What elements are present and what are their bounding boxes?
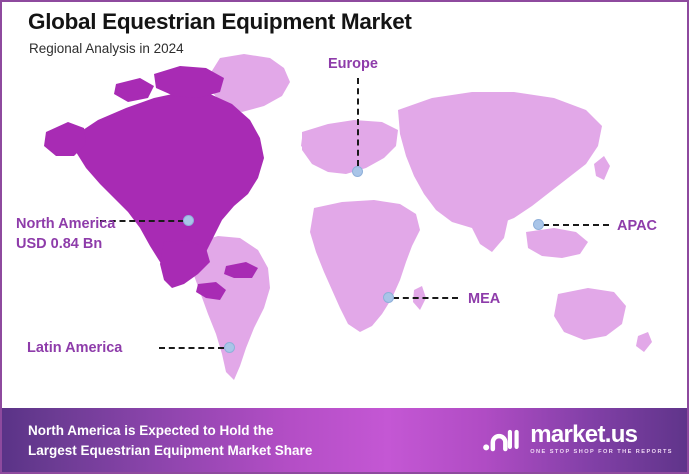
logo-text-group: market.us ONE STOP SHOP FOR THE REPORTS (530, 423, 673, 456)
footer-headline-line1: North America is Expected to Hold the (28, 421, 312, 441)
region-name-latin-america: Latin America (27, 339, 122, 359)
map-base-regions (192, 54, 652, 380)
region-name-mea: MEA (468, 290, 500, 310)
region-africa (310, 200, 420, 332)
marker-apac[interactable] (533, 219, 544, 230)
leader-line-apac (543, 224, 609, 226)
infographic-card: Global Equestrian Equipment Market Regio… (0, 0, 689, 474)
leader-line-europe (357, 78, 359, 166)
marker-europe[interactable] (352, 166, 363, 177)
logo-tagline: ONE STOP SHOP FOR THE REPORTS (530, 450, 673, 456)
region-label-europe: Europe (328, 55, 378, 75)
region-label-north-america: North America USD 0.84 Bn (16, 215, 115, 254)
region-southeast-asia (526, 228, 588, 258)
region-name-europe: Europe (328, 55, 378, 75)
footer-banner: North America is Expected to Hold the La… (2, 408, 689, 472)
footer-headline: North America is Expected to Hold the La… (28, 421, 312, 460)
marker-latin-america[interactable] (224, 342, 235, 353)
region-name-apac: APAC (617, 217, 657, 237)
logo-wordmark: market.us (530, 423, 673, 447)
region-new-zealand (636, 332, 652, 352)
region-value-north-america: USD 0.84 Bn (16, 235, 115, 255)
region-name-north-america: North America (16, 215, 115, 235)
market-us-logo-icon (482, 422, 522, 456)
marker-north-america[interactable] (183, 215, 194, 226)
region-japan (594, 156, 610, 180)
region-label-apac: APAC (617, 217, 657, 237)
page-subtitle: Regional Analysis in 2024 (29, 41, 412, 56)
header: Global Equestrian Equipment Market Regio… (28, 10, 412, 56)
region-india (470, 210, 508, 252)
marker-mea[interactable] (383, 292, 394, 303)
region-europe (302, 120, 398, 174)
footer-headline-line2: Largest Equestrian Equipment Market Shar… (28, 441, 312, 461)
leader-line-latin-america (159, 347, 224, 349)
region-asia (398, 92, 602, 228)
leader-line-mea (393, 297, 458, 299)
market-us-logo[interactable]: market.us ONE STOP SHOP FOR THE REPORTS (482, 422, 673, 456)
region-arctic-islands-2-highlight (114, 78, 154, 102)
region-australia (554, 288, 626, 340)
region-label-latin-america: Latin America (27, 339, 122, 359)
region-label-mea: MEA (468, 290, 500, 310)
page-title: Global Equestrian Equipment Market (28, 10, 412, 35)
